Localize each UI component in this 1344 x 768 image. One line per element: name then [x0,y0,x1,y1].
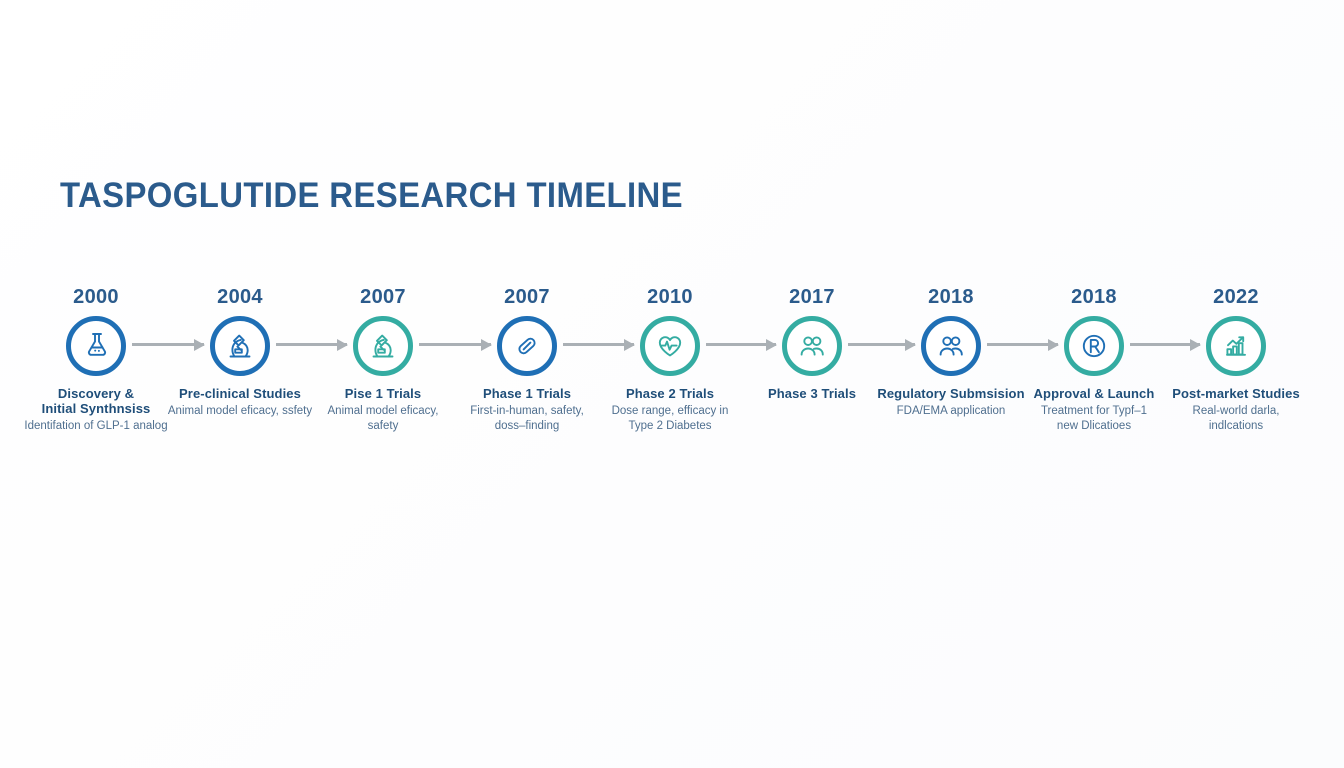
node-icon-circle[interactable] [1064,316,1124,376]
arrow-right-icon [624,339,635,351]
timeline-connector-arrow [848,343,915,346]
timeline-connector-arrow [706,343,776,346]
arrow-right-icon [337,339,348,351]
timeline-connector-arrow [419,343,491,346]
node-description: Dose range, efficacy in Type 2 Diabetes [585,404,755,434]
people-icon [935,330,967,362]
growth-chart-icon [1220,330,1252,362]
timeline-connector-arrow [276,343,347,346]
microscope-icon [224,330,256,362]
timeline-track: 2000Discovery & Initial SynthnsissIdenti… [0,286,1344,476]
page-title: TASPOGLUTIDE RESEARCH TIMELINE [60,176,683,216]
node-icon-circle[interactable] [210,316,270,376]
registered-mark-icon [1078,330,1110,362]
capsule-icon [511,330,543,362]
heart-pulse-icon [654,330,686,362]
timeline-connector-arrow [987,343,1058,346]
node-description: Real-world darla, indlcations [1151,404,1321,434]
timeline-connector-arrow [1130,343,1200,346]
node-icon-circle[interactable] [497,316,557,376]
node-icon-circle[interactable] [66,316,126,376]
node-year: 2022 [1151,286,1321,310]
node-icon-circle[interactable] [353,316,413,376]
arrow-right-icon [905,339,916,351]
node-icon-circle[interactable] [782,316,842,376]
arrow-right-icon [194,339,205,351]
node-icon-circle[interactable] [921,316,981,376]
arrow-right-icon [481,339,492,351]
arrow-right-icon [1048,339,1059,351]
node-title: Post-market Studies [1151,386,1321,401]
node-icon-circle[interactable] [1206,316,1266,376]
arrow-right-icon [1190,339,1201,351]
arrow-right-icon [766,339,777,351]
timeline-node-9[interactable]: 2022Post-market StudiesReal-world darla,… [1151,286,1321,434]
people-icon [796,330,828,362]
timeline-connector-arrow [132,343,204,346]
timeline-connector-arrow [563,343,634,346]
flask-icon [80,330,112,362]
node-icon-circle[interactable] [640,316,700,376]
node-description: Identifation of GLP-1 analog [11,419,181,434]
microscope-icon [367,330,399,362]
infographic-canvas: TASPOGLUTIDE RESEARCH TIMELINE 2000Disco… [0,0,1344,768]
